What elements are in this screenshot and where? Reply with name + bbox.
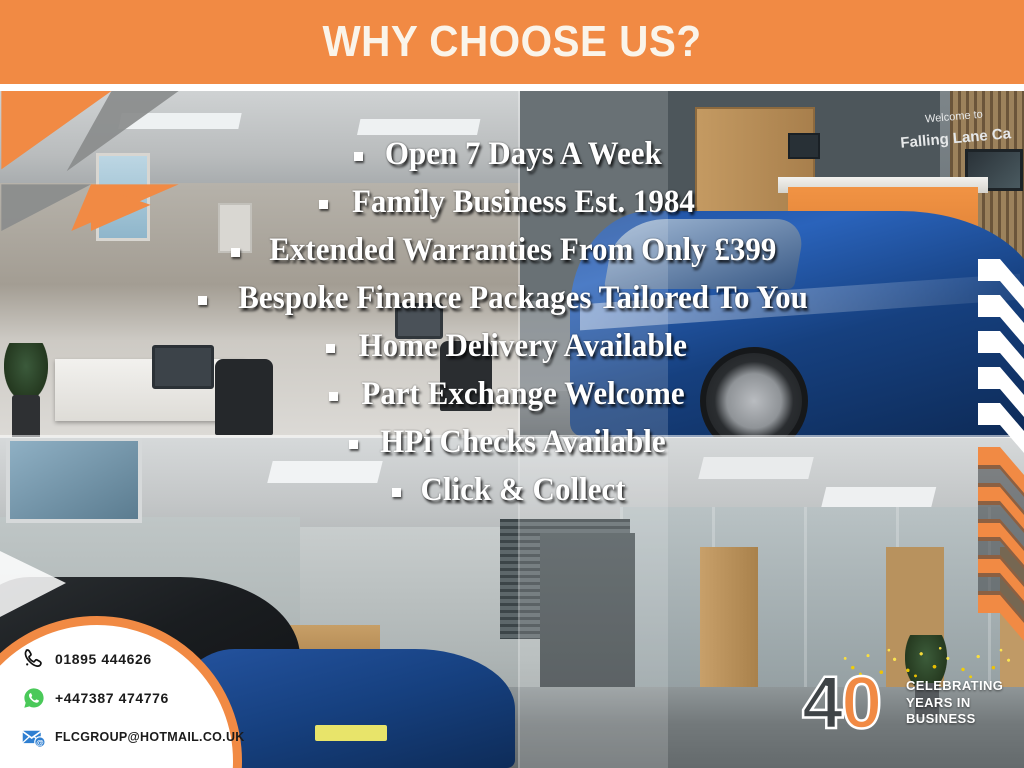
page-title: WHY CHOOSE US? (322, 17, 701, 67)
phone-number: 01895 444626 (55, 651, 152, 667)
chevron-group-white (978, 259, 1024, 453)
wall-frame-small (788, 133, 820, 159)
exterior-window (6, 437, 142, 523)
desk-monitor-2 (395, 303, 443, 339)
chevron-white-bl (0, 551, 66, 617)
ceiling-light-panel (267, 461, 382, 483)
contact-whatsapp-row[interactable]: +447387 474776 (22, 686, 245, 710)
contact-details: 01895 444626 +447387 474776 @ FLCGROUP@H… (22, 647, 245, 749)
contact-email-row[interactable]: @ FLCGROUP@HOTMAIL.CO.UK (22, 725, 245, 749)
contact-phone-row[interactable]: 01895 444626 (22, 647, 245, 671)
anniversary-caption: CELEBRATING YEARS IN BUSINESS (906, 678, 1003, 728)
anniversary-caption-line-2: YEARS IN (906, 695, 1003, 712)
anniversary-caption-line-1: CELEBRATING (906, 678, 1003, 695)
anniversary-number: 4 0 (802, 666, 880, 740)
whatsapp-icon (22, 686, 46, 710)
header-white-divider (0, 84, 1024, 91)
number-plate (315, 725, 387, 741)
header-banner: WHY CHOOSE US? (0, 0, 1024, 84)
svg-text:@: @ (36, 738, 44, 747)
phone-icon (22, 647, 46, 671)
why-choose-us-poster: Welcome to Falling Lane Ca (0, 0, 1024, 768)
wall-poster-small (218, 203, 252, 253)
photo-seam-line (518, 91, 520, 768)
anniversary-logo: 4 0 CELEBRATING YEARS IN BUSINESS (802, 652, 1012, 752)
anniversary-caption-line-3: BUSINESS (906, 711, 1003, 728)
email-icon: @ (22, 725, 46, 749)
anniversary-digit-4: 4 (802, 666, 841, 740)
blue-car-windscreen (604, 219, 806, 289)
office-chair-1 (215, 359, 273, 435)
photo-horizontal-divider (0, 435, 1024, 438)
office-chair-2 (440, 341, 492, 411)
potted-plant-left (4, 343, 48, 401)
corner-arrow-decor-top-left (0, 91, 180, 231)
email-address: FLCGROUP@HOTMAIL.CO.UK (55, 730, 245, 744)
desk-monitor-1 (152, 345, 214, 389)
whatsapp-number: +447387 474776 (55, 690, 169, 706)
anniversary-digit-0: 0 (841, 666, 880, 740)
